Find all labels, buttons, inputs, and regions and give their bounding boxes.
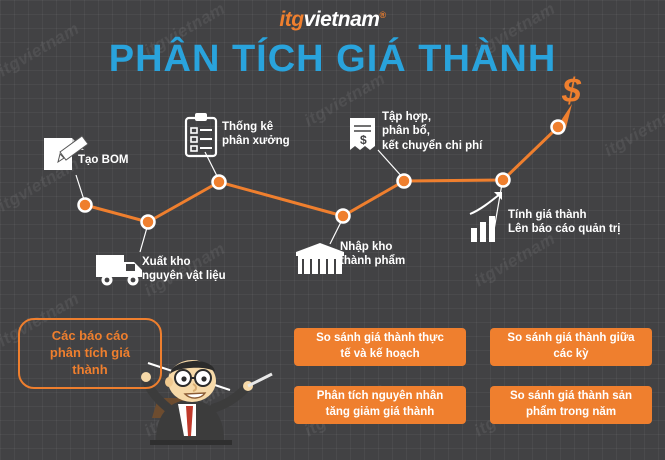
tag-analyze-causes[interactable]: Phân tích nguyên nhân tăng giảm giá thàn… [294, 386, 466, 424]
node-label-tap-hop: Tập hợp, phân bổ, kết chuyển chi phí [382, 110, 482, 153]
tag-compare-periods[interactable]: So sánh giá thành giữa các kỳ [490, 328, 652, 366]
chart-line [85, 127, 558, 222]
node-label-thong-ke: Thống kê phân xưởng [222, 120, 290, 149]
svg-text:$: $ [360, 133, 367, 147]
chart-node [142, 216, 155, 229]
warehouse-icon [296, 243, 344, 274]
tag-compare-actual-plan[interactable]: So sánh giá thành thực tế và kế hoạch [294, 328, 466, 366]
node-label-xuat-kho: Xuất kho nguyên vật liệu [142, 255, 226, 284]
clipboard-checklist-icon [186, 113, 216, 156]
chart-node [552, 121, 565, 134]
chart-node [79, 199, 92, 212]
chart-node [213, 176, 226, 189]
invoice-icon: $ [350, 118, 375, 150]
chart-node [497, 174, 510, 187]
chart-node [398, 175, 411, 188]
delivery-truck-icon [96, 255, 142, 286]
node-label-tao-bom: Tạo BOM [78, 153, 128, 167]
bar-chart-arrow-icon [470, 192, 502, 242]
tag-compare-products-year[interactable]: So sánh giá thành sản phẩm trong năm [490, 386, 652, 424]
infographic-canvas: itgvietnam itgvietnam itgvietnam itgviet… [0, 0, 665, 460]
node-label-tinh-gia-thanh: Tính giá thành Lên báo cáo quản trị [508, 208, 620, 237]
dollar-sign-icon: $ [562, 72, 581, 111]
node-label-nhap-kho: Nhập kho thành phẩm [340, 240, 405, 269]
chart-node [337, 210, 350, 223]
callout-reports: Các báo cáo phân tích giá thành [18, 318, 162, 389]
